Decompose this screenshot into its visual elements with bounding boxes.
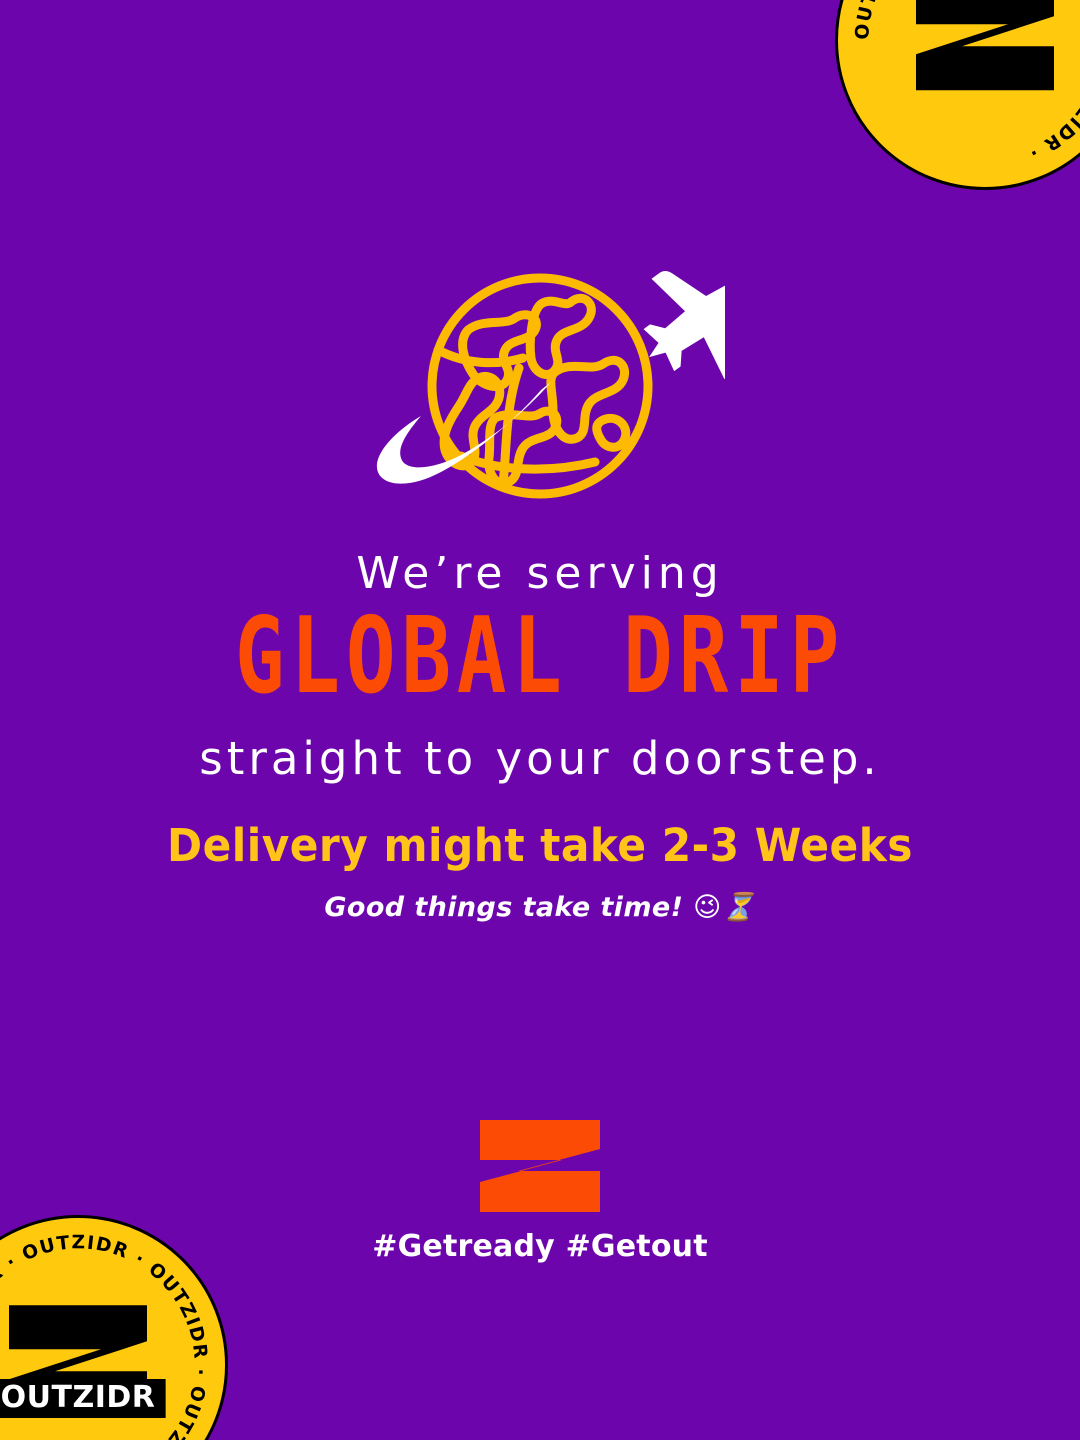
tagline-line-three: straight to your doorstep.: [0, 732, 1080, 786]
poster-canvas: OUTZIDR · OUTZIDR · OUTZIDR · OUTZIDR · …: [0, 0, 1080, 1440]
footer-brand-block: #Getready #Getout: [0, 1120, 1080, 1264]
airplane-icon: [613, 268, 725, 407]
seal-wordmark-bottom-left: OUTZIDR: [0, 1379, 165, 1418]
delivery-eta-text: Delivery might take 2-3 Weeks: [32, 820, 1047, 872]
seal-z-mark-top-right: [910, 0, 1060, 94]
seal-badge-top-right: OUTZIDR · OUTZIDR · OUTZIDR · OUTZIDR ·: [835, 0, 1080, 190]
main-copy-block: We’re serving GLOBAL DRIP straight to yo…: [0, 548, 1080, 786]
delivery-notice-block: Delivery might take 2-3 Weeks Good thing…: [0, 820, 1080, 924]
tagline-line-one: We’re serving: [0, 548, 1080, 600]
headline-global-drip: GLOBAL DRIP: [22, 604, 1059, 711]
globe-icon: [432, 278, 648, 494]
hero-globe-airplane-icon: [0, 268, 1080, 518]
hashtags-text: #Getready #Getout: [0, 1229, 1080, 1264]
reassurance-text: Good things take time! 😉⏳: [0, 892, 1080, 924]
brand-z-logo-icon: [478, 1120, 602, 1212]
